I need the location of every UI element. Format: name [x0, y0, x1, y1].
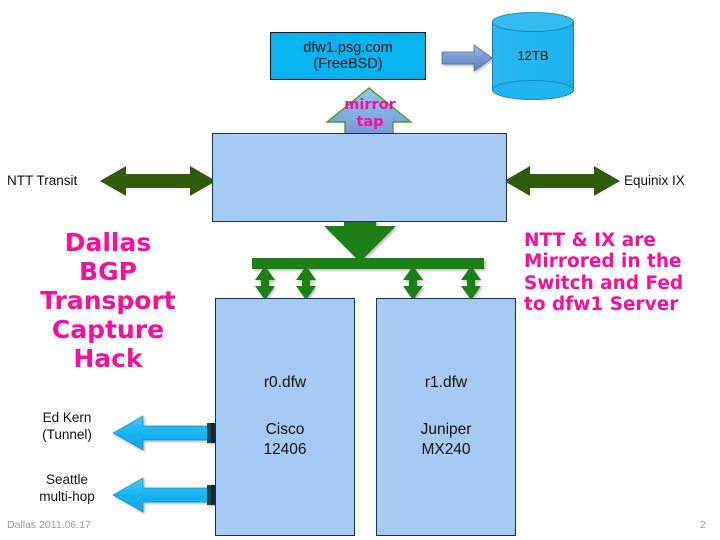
title-left-line-2: BGP: [18, 257, 198, 286]
page-number: 2: [700, 519, 706, 531]
mirror-tap-line1: mirror: [334, 97, 406, 114]
footer-date: Dallas 2011.06.17: [7, 519, 91, 531]
green-bus-bar: [252, 258, 484, 269]
note-right-line-1: NTT & IX are: [524, 230, 720, 251]
title-left-line-1: Dallas: [18, 228, 198, 257]
note-right-line-2: Mirrored in the: [524, 251, 720, 272]
label-ed-kern-line1: Ed Kern: [22, 410, 112, 427]
label-tunnel-ed-kern: Ed Kern (Tunnel): [22, 410, 112, 444]
label-equinix-ix: Equinix IX: [624, 173, 685, 188]
router-1-model: MX240: [421, 440, 470, 461]
router-0-name: r0.dfw: [264, 373, 306, 394]
label-seattle-line2: multi-hop: [22, 489, 112, 506]
bus-to-router-arrows: [255, 266, 481, 300]
slide-note-right: NTT & IX are Mirrored in the Switch and …: [524, 230, 720, 316]
note-right-line-3: Switch and Fed: [524, 273, 720, 294]
server-hostname: dfw1.psg.com: [303, 40, 392, 56]
note-right-line-4: to dfw1 Server: [524, 294, 720, 315]
router-box-r0-dfw[interactable]: r0.dfw Cisco 12406: [215, 298, 355, 536]
router-box-r1-dfw[interactable]: r1.dfw Juniper MX240: [376, 298, 516, 536]
label-tunnel-seattle: Seattle multi-hop: [22, 472, 112, 506]
label-ed-kern-line2: (Tunnel): [22, 427, 112, 444]
mirror-tap-line2: tap: [334, 114, 406, 131]
ntt-transit-arrow: [100, 166, 216, 196]
slide-title-left: Dallas BGP Transport Capture Hack: [18, 228, 198, 373]
router-1-vendor: Juniper: [421, 420, 472, 441]
switch-box[interactable]: [212, 133, 507, 222]
storage-cylinder-12tb[interactable]: 12TB: [492, 12, 574, 100]
title-left-line-4: Capture: [18, 315, 198, 344]
label-ntt-transit: NTT Transit: [7, 173, 77, 188]
server-to-storage-arrow: [442, 45, 492, 71]
slide-canvas: dfw1.psg.com (FreeBSD) 12TB mirror tap N…: [0, 0, 720, 540]
cylinder-top: [492, 12, 574, 32]
server-os: (FreeBSD): [313, 56, 382, 72]
tunnel-arrow-ed-kern: [113, 416, 215, 450]
server-box-dfw1[interactable]: dfw1.psg.com (FreeBSD): [270, 32, 426, 80]
cylinder-bottom: [492, 80, 574, 100]
router-0-model: 12406: [263, 440, 306, 461]
label-seattle-line1: Seattle: [22, 472, 112, 489]
title-left-line-5: Hack: [18, 344, 198, 373]
mirror-tap-label: mirror tap: [334, 97, 406, 131]
title-left-line-3: Transport: [18, 286, 198, 315]
router-1-name: r1.dfw: [425, 373, 467, 394]
equinix-ix-arrow: [504, 166, 620, 196]
tunnel-arrow-seattle: [113, 478, 215, 512]
router-0-vendor: Cisco: [266, 420, 305, 441]
storage-capacity-label: 12TB: [492, 48, 574, 63]
